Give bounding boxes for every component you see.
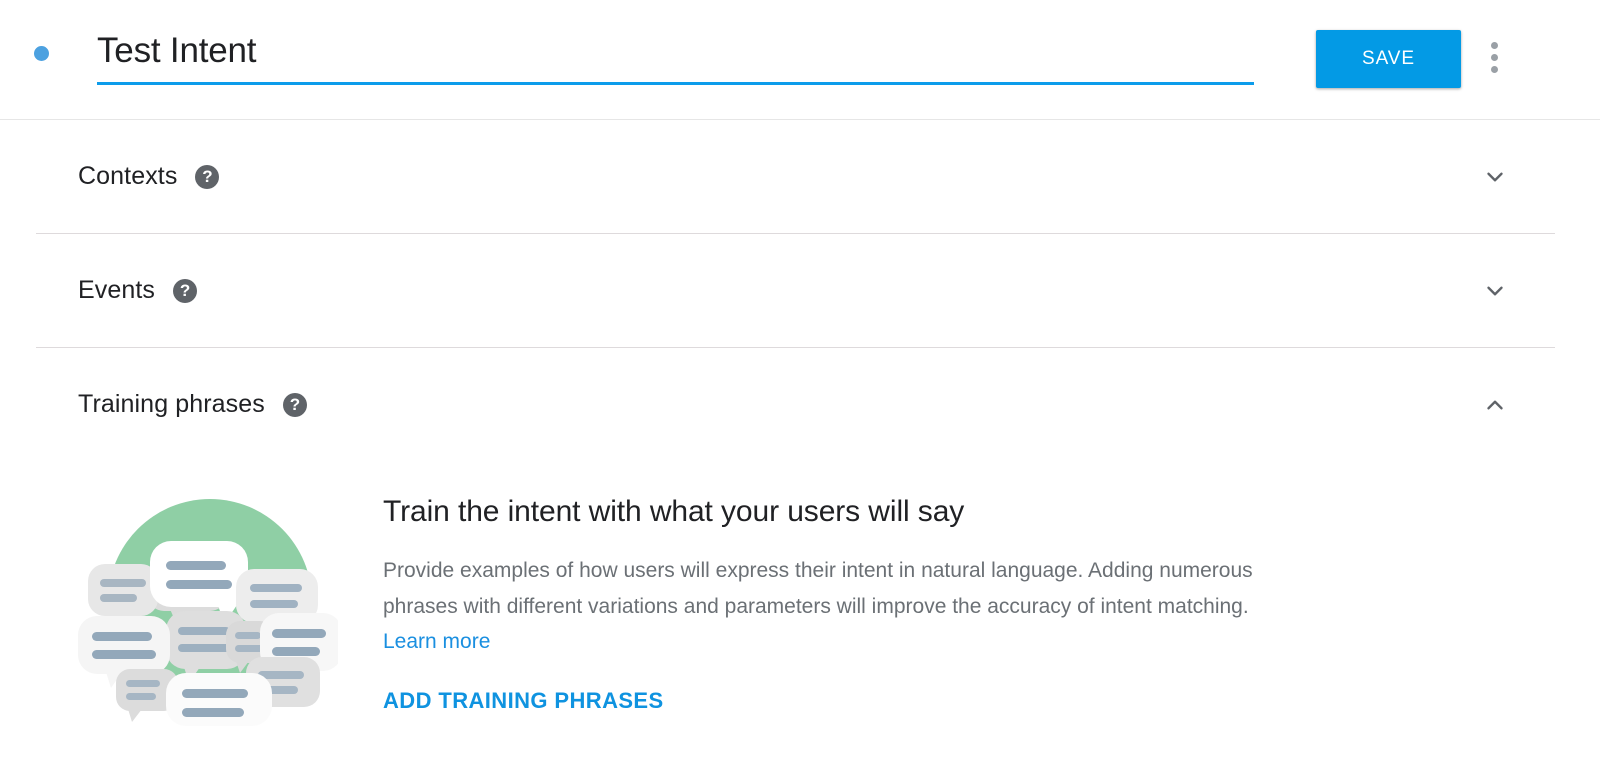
learn-more-link[interactable]: Learn more xyxy=(383,630,490,653)
kebab-dot xyxy=(1491,42,1498,49)
section-title-training-phrases: Training phrases xyxy=(78,390,265,419)
training-phrases-copy: Train the intent with what your users wi… xyxy=(338,483,1263,726)
help-icon[interactable]: ? xyxy=(195,165,219,189)
intent-name-input[interactable] xyxy=(97,28,1254,82)
chevron-down-icon[interactable] xyxy=(1478,160,1512,194)
training-phrases-description: Provide examples of how users will expre… xyxy=(383,553,1263,660)
help-icon[interactable]: ? xyxy=(173,279,197,303)
add-training-phrases-button[interactable]: ADD TRAINING PHRASES xyxy=(383,688,664,714)
intent-title-field[interactable] xyxy=(97,28,1254,85)
kebab-dot xyxy=(1491,66,1498,73)
chevron-down-icon[interactable] xyxy=(1478,274,1512,308)
intent-sections: Contexts ? Events ? Training phrases ? xyxy=(0,120,1600,726)
section-header-events[interactable]: Events ? xyxy=(0,234,1600,347)
intent-name-underline xyxy=(97,82,1254,85)
section-title-contexts: Contexts xyxy=(78,162,177,191)
section-header-training-phrases[interactable]: Training phrases ? xyxy=(0,348,1600,461)
save-button[interactable]: SAVE xyxy=(1316,30,1461,88)
intent-status-dot xyxy=(34,46,49,61)
help-icon[interactable]: ? xyxy=(283,393,307,417)
more-vert-icon[interactable] xyxy=(1473,36,1515,78)
training-phrases-heading: Train the intent with what your users wi… xyxy=(383,493,1263,531)
section-header-contexts[interactable]: Contexts ? xyxy=(0,120,1600,233)
speech-bubbles-illustration xyxy=(78,491,338,726)
intent-header: SAVE xyxy=(0,0,1600,120)
chevron-up-icon[interactable] xyxy=(1478,388,1512,422)
training-phrases-description-text: Provide examples of how users will expre… xyxy=(383,559,1253,618)
kebab-dot xyxy=(1491,54,1498,61)
training-phrases-empty-state: Train the intent with what your users wi… xyxy=(0,461,1600,726)
section-title-events: Events xyxy=(78,276,155,305)
